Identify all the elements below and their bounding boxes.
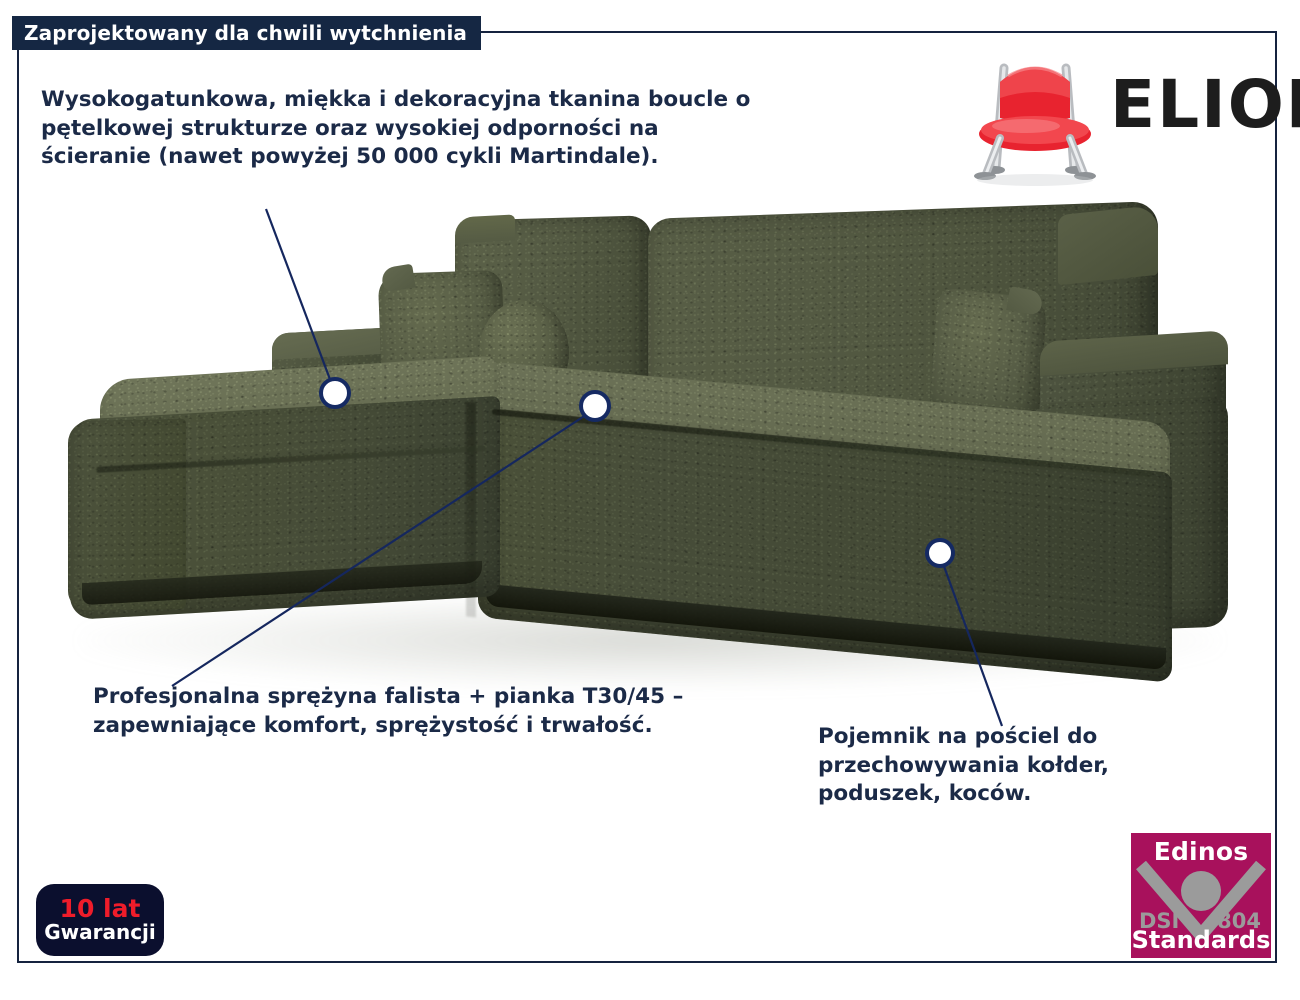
warranty-badge: 10 lat Gwarancji xyxy=(36,884,164,956)
certificate-subtitle: Standards xyxy=(1131,926,1271,954)
certificate-title: Edinos xyxy=(1131,837,1271,866)
brand-name: ELIOR xyxy=(1110,72,1300,138)
red-chair-icon xyxy=(970,46,1100,186)
sofa-pillow-square-corner xyxy=(380,264,415,293)
page-title: Zaprojektowany dla chwili wytchnienia xyxy=(24,21,467,45)
callout-marker-fabric[interactable] xyxy=(319,377,351,409)
brand-logo: ELIOR xyxy=(970,46,1270,186)
callout-marker-spring[interactable] xyxy=(579,390,611,422)
callout-text-storage: Pojemnik na pościel do przechowywania ko… xyxy=(818,723,1218,809)
certificate-badge: Edinos DSI 804 Standards xyxy=(1131,833,1271,958)
warranty-years: 10 lat xyxy=(60,896,141,921)
warranty-label: Gwarancji xyxy=(44,921,156,944)
callout-text-spring: Profesjonalna sprężyna falista + pianka … xyxy=(93,683,693,740)
sofa-backrest-right-wing xyxy=(1058,205,1158,286)
title-banner: Zaprojektowany dla chwili wytchnienia xyxy=(12,16,481,50)
infographic-stage: Zaprojektowany dla chwili wytchnienia Wy… xyxy=(0,0,1300,1000)
callout-text-fabric: Wysokogatunkowa, miękka i dekoracyjna tk… xyxy=(41,86,771,172)
callout-marker-storage[interactable] xyxy=(925,538,955,568)
sofa-backrest-left-peak xyxy=(455,214,515,243)
sofa-seam-center xyxy=(466,401,476,617)
